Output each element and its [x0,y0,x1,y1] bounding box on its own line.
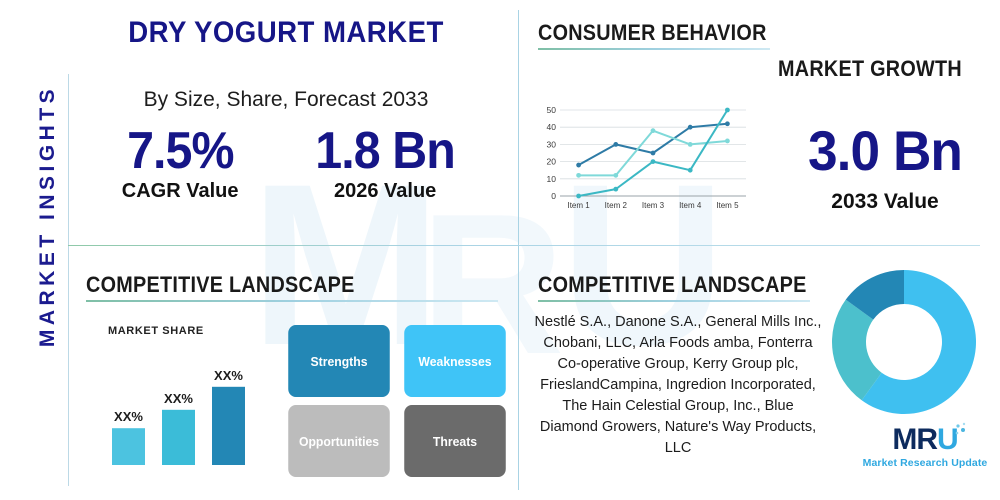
section-rule-consumer-behavior [538,48,770,50]
svg-text:40: 40 [547,122,557,132]
market-growth-value: 3.0 Bn [785,120,985,182]
svg-text:0: 0 [551,191,556,201]
section-heading-competitive-landscape-right: COMPETITIVE LANDSCAPE [538,272,807,298]
swot-label-opportunities: Opportunities [299,434,379,449]
swot-label-threats: Threats [433,434,477,449]
svg-text:Item 5: Item 5 [716,201,739,210]
section-heading-consumer-behavior: CONSUMER BEHAVIOR [538,20,767,46]
swot-label-weaknesses: Weaknesses [418,354,491,369]
stat-2026: 1.8 Bn 2026 Value [310,120,460,203]
market-growth-caption: 2033 Value [780,190,990,214]
svg-text:XX%: XX% [114,409,143,424]
section-heading-market-growth: MARKET GROWTH [778,56,962,82]
mru-logo: MRU Market Research Update [862,424,988,482]
section-rule-competitive-left [86,300,498,302]
divider-vertical-left [68,74,69,486]
svg-text:Item 2: Item 2 [605,201,628,210]
side-label-market-insights: MARKET INSIGHTS [36,76,60,356]
divider-vertical-middle [518,10,519,490]
stat-cagr-value: 7.5% [126,120,235,182]
line-chart-consumer-behavior: 01020304050 Item 1Item 2Item 3Item 4Item… [534,104,749,216]
svg-text:Item 1: Item 1 [567,201,590,210]
swot-label-strengths: Strengths [310,354,367,369]
logo-mark-dark: MR [892,423,937,456]
svg-text:20: 20 [547,157,557,167]
swot-cell-threats[interactable]: Threats [404,405,506,477]
logo-droplets-icon [952,422,972,440]
section-heading-competitive-landscape-left: COMPETITIVE LANDSCAPE [86,272,355,298]
swot-grid: Strengths Weaknesses Opportunities Threa… [285,325,509,477]
bar-chart-market-share: XX%XX%XX% [100,335,270,470]
swot-cell-strengths[interactable]: Strengths [288,325,390,397]
svg-text:50: 50 [547,105,557,115]
swot-cell-opportunities[interactable]: Opportunities [288,405,390,477]
infographic-root: M R U MARKET INSIGHTS DRY YOGURT MARKET … [0,0,1000,500]
page-title: DRY YOGURT MARKET [102,16,470,50]
logo-tagline: Market Research Update [862,457,988,469]
stat-2026-caption: 2026 Value [310,180,460,203]
svg-text:30: 30 [547,139,557,149]
section-rule-competitive-right [538,300,810,302]
stat-cagr-caption: CAGR Value [122,180,239,203]
svg-text:Item 3: Item 3 [642,201,665,210]
donut-chart-market-segments [828,266,980,418]
svg-text:XX%: XX% [214,368,243,383]
stat-2026-value: 1.8 Bn [315,120,455,182]
page-subtitle: By Size, Share, Forecast 2033 [86,88,486,112]
stat-group: 7.5% CAGR Value 1.8 Bn 2026 Value [86,120,496,203]
company-list: Nestlé S.A., Danone S.A., General Mills … [534,312,822,459]
svg-text:XX%: XX% [164,391,193,406]
divider-horizontal [68,245,980,246]
swot-cell-weaknesses[interactable]: Weaknesses [404,325,506,397]
svg-text:10: 10 [547,174,557,184]
stat-cagr: 7.5% CAGR Value [122,120,239,203]
svg-text:Item 4: Item 4 [679,201,702,210]
